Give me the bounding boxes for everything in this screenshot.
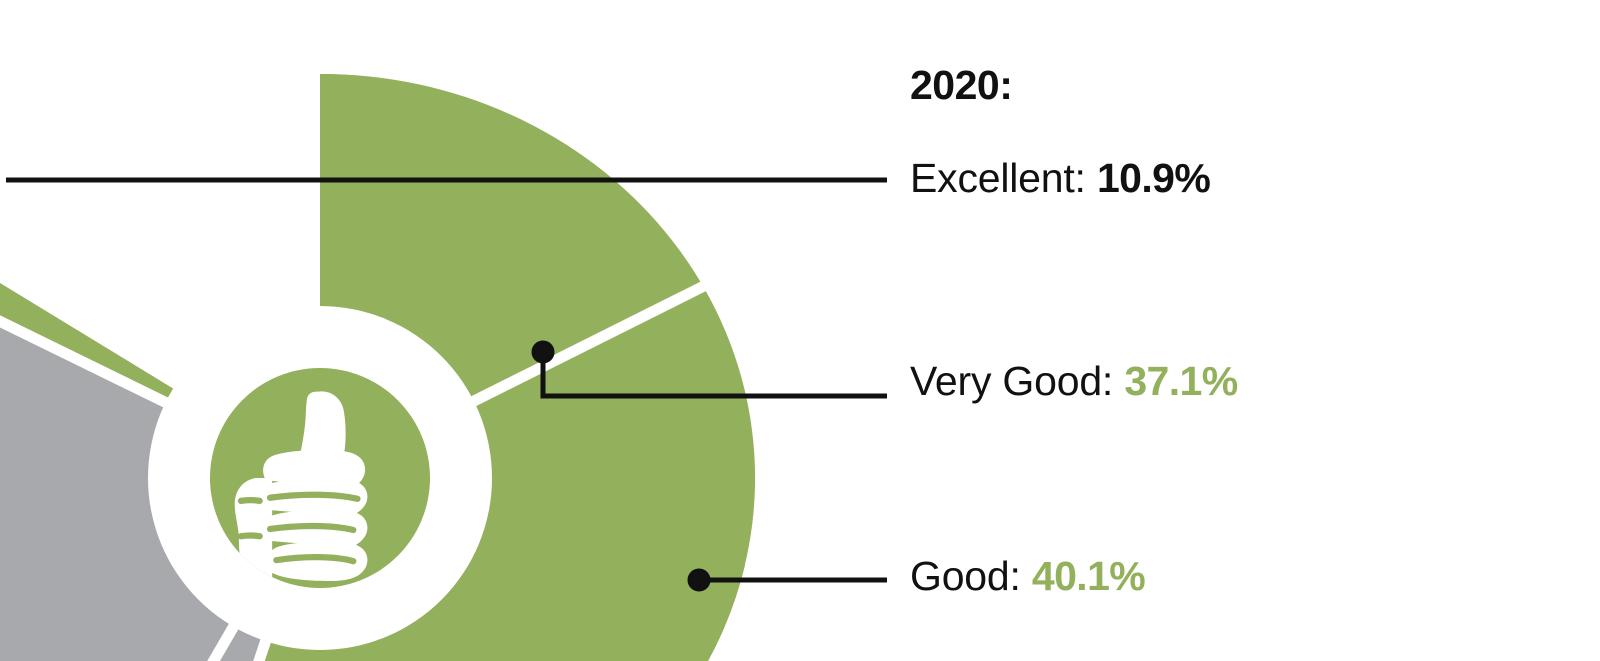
callout-excellent-value: 10.9% (1097, 155, 1210, 201)
donut-chart (0, 0, 1600, 661)
chart-canvas: 2020: Excellent: 10.9% Very Good: 37.1% … (0, 0, 1600, 661)
callout-very-good-label: Very Good: (910, 358, 1113, 404)
callout-good-value: 40.1% (1032, 553, 1145, 599)
callout-excellent-label: Excellent: (910, 155, 1086, 201)
callout-very-good-value: 37.1% (1124, 358, 1237, 404)
callout-good-label: Good: (910, 553, 1021, 599)
callout-excellent: Excellent: 10.9% (910, 155, 1210, 202)
callout-very-good: Very Good: 37.1% (910, 358, 1238, 405)
chart-year-title: 2020: (910, 62, 1012, 109)
callout-good: Good: 40.1% (910, 553, 1145, 600)
